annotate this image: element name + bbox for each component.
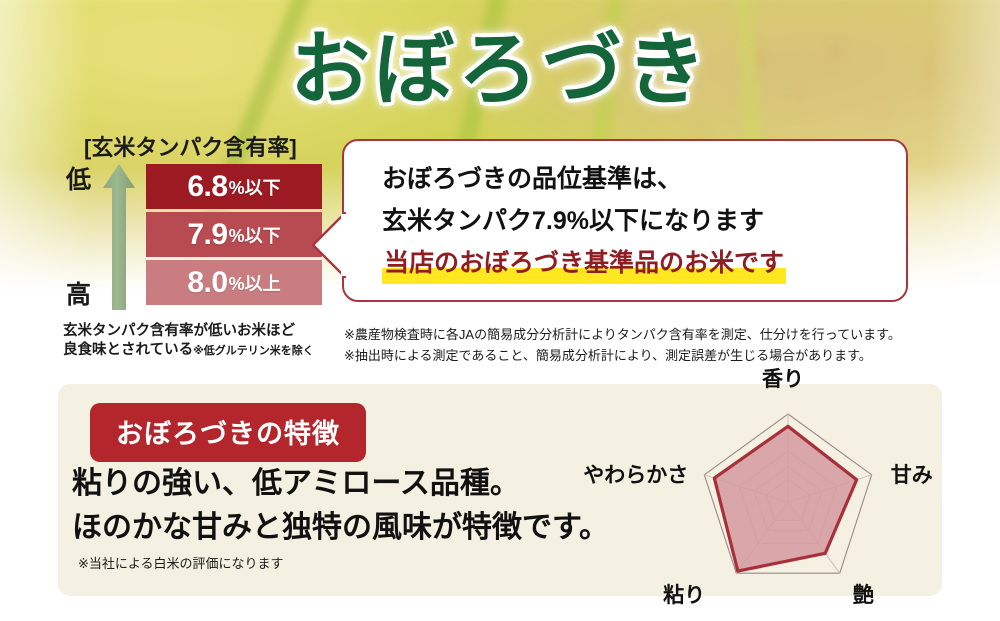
protein-tier-row: 6.8 %以下 xyxy=(146,164,322,209)
footnote-item: ※農産物検査時に各JAの簡易成分分析計によりタンパク含有率を測定、仕分けを行って… xyxy=(344,324,964,345)
protein-tier-list: 6.8 %以下 7.9 %以下 8.0 %以上 xyxy=(146,164,322,308)
callout-line-1: おぼろづきの品位基準は、 xyxy=(382,158,894,200)
callout-line-2: 玄米タンパク7.9%以下になります xyxy=(382,200,894,242)
protein-scale-note: 玄米タンパク含有率が低いお米ほど 良食味とされている※低グルテリン米を除く xyxy=(63,322,363,361)
scale-note-main: 良食味とされている xyxy=(63,342,193,358)
radar-axis-label-2: 艶 xyxy=(853,579,874,609)
axis-label-low: 低 xyxy=(66,160,91,196)
protein-axis: 低 高 xyxy=(66,164,136,310)
tier-value: 6.8 xyxy=(187,170,227,204)
scale-note-small: ※低グルテリン米を除く xyxy=(193,345,314,357)
tier-value: 8.0 xyxy=(187,266,227,300)
tier-value: 7.9 xyxy=(187,218,227,252)
axis-label-high: 高 xyxy=(66,275,91,311)
protein-tier-row: 8.0 %以上 xyxy=(146,260,322,305)
features-note: ※当社による白米の評価になります xyxy=(78,553,284,572)
features-badge: おぼろづきの特徴 xyxy=(90,403,366,462)
up-arrow-icon xyxy=(102,164,136,310)
taste-radar-chart: 香り 甘み 艶 粘り やわらかさ xyxy=(580,382,980,614)
protein-tier-row: 7.9 %以下 xyxy=(146,212,322,257)
infographic-root: おぼろづき [玄米タンパク含有率] 低 高 6.8 %以下 7.9 %以下 xyxy=(0,0,1000,621)
scale-note-line-1: 玄米タンパク含有率が低いお米ほど xyxy=(63,322,363,341)
callout-tail-pointer xyxy=(311,212,347,278)
tier-suffix: %以下 xyxy=(229,222,281,248)
radar-axis-label-1: 甘み xyxy=(891,459,933,489)
radar-axis-label-3: 粘り xyxy=(663,579,705,609)
radar-axis-label-0: 香り xyxy=(762,363,804,393)
tier-suffix: %以上 xyxy=(229,270,281,296)
radar-chart-svg xyxy=(580,382,980,614)
protein-scale-heading: [玄米タンパク含有率] xyxy=(84,130,297,162)
page-title: おぼろづき xyxy=(0,26,1000,112)
footnote-item: ※抽出時による測定であること、簡易成分析計により、測定誤差が生じる場合があります… xyxy=(344,345,964,366)
footnote-list: ※農産物検査時に各JAの簡易成分分析計によりタンパク含有率を測定、仕分けを行って… xyxy=(344,324,964,366)
callout-line-3-highlighted: 当店のおぼろづき基準品のお米です xyxy=(382,242,786,284)
callout-text: おぼろづきの品位基準は、 玄米タンパク7.9%以下になります 当店のおぼろづき基… xyxy=(382,158,894,284)
radar-axis-label-4: やわらかさ xyxy=(583,459,688,489)
callout-line-3-wrap: 当店のおぼろづき基準品のお米です xyxy=(382,242,894,284)
scale-note-line-2: 良食味とされている※低グルテリン米を除く xyxy=(63,341,363,361)
tier-suffix: %以下 xyxy=(229,174,281,200)
